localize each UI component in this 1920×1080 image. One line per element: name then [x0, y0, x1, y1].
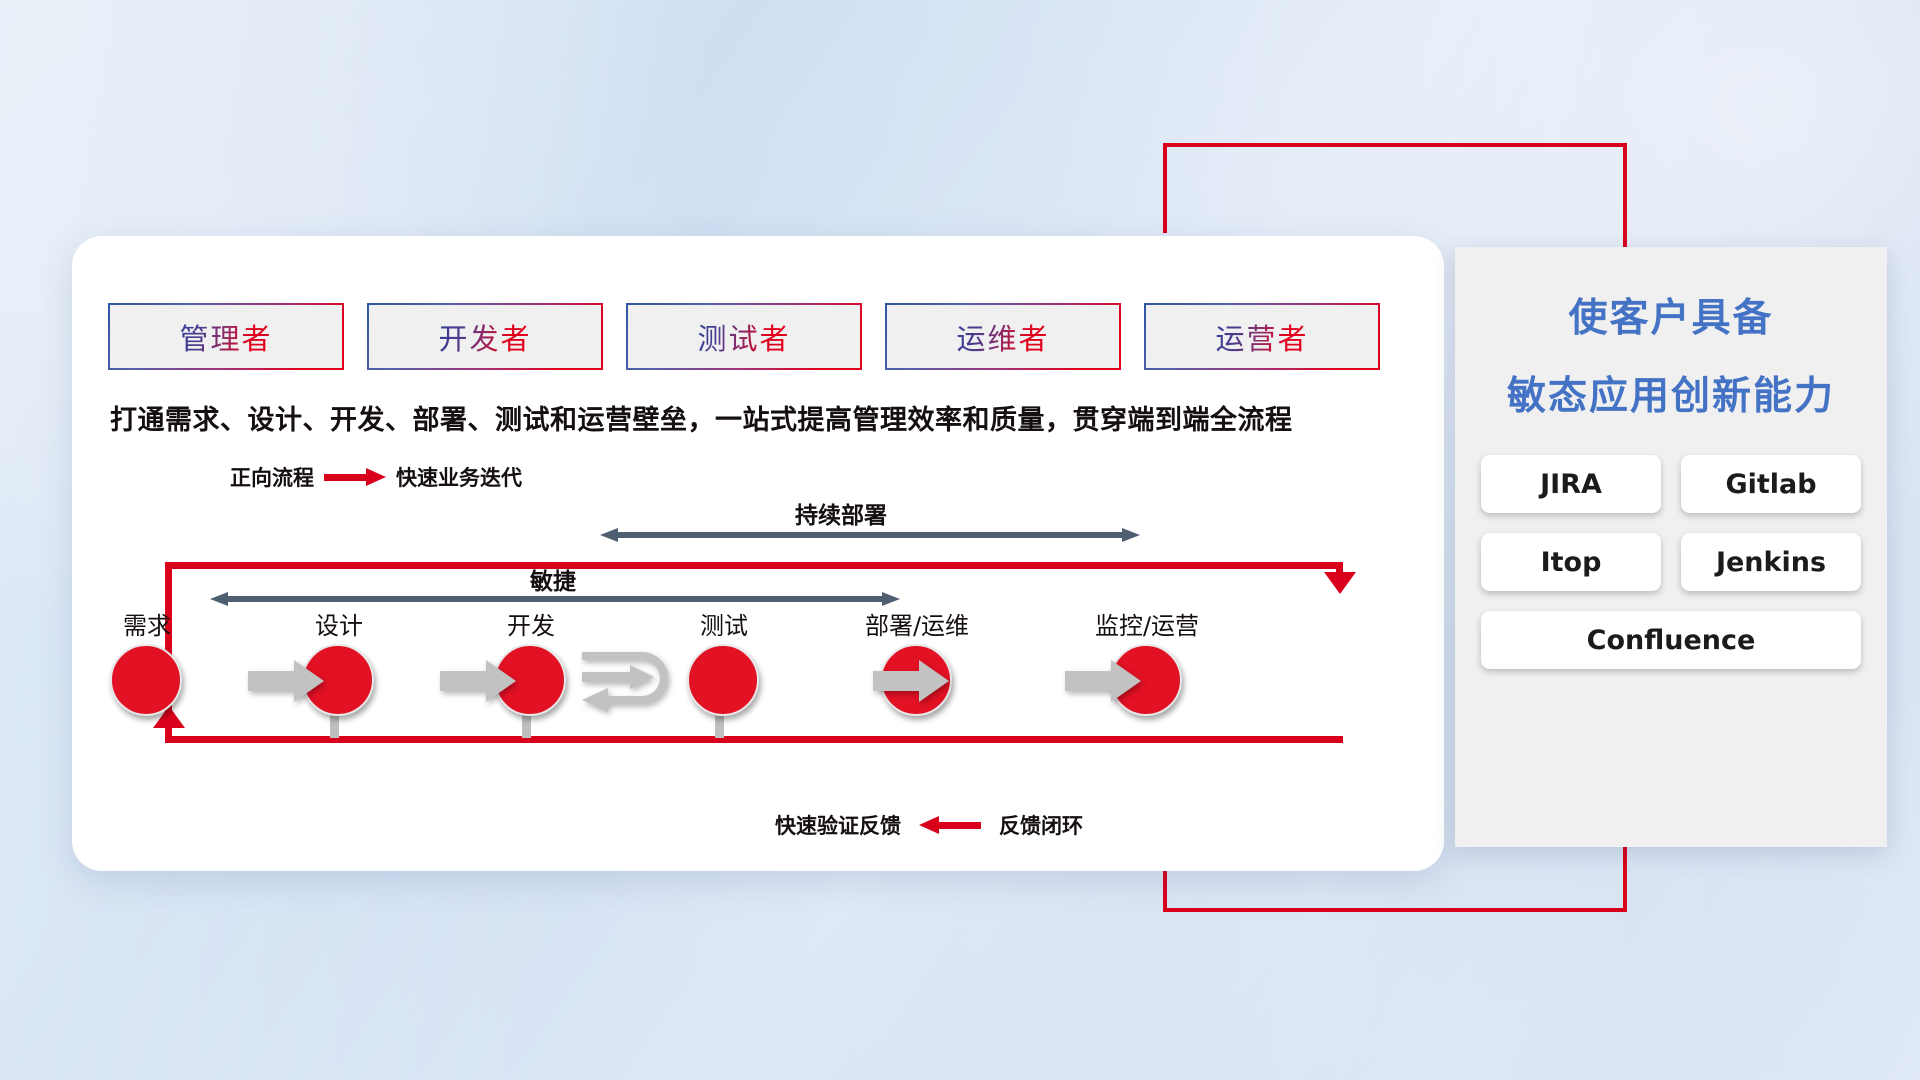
tool-chip-list: JIRA Gitlab Itop Jenkins Confluence	[1481, 455, 1861, 669]
pipeline-node-dot	[110, 644, 182, 716]
legend-feedback-right-label: 反馈闭环	[999, 810, 1083, 840]
pipeline-node-label: 需求	[123, 606, 171, 641]
arrow-down-red-icon	[1324, 572, 1356, 594]
role-chip-ops[interactable]: 运维者	[887, 305, 1119, 368]
panel-heading-line2: 敏态应用创新能力	[1455, 365, 1887, 421]
legend-forward-left-label: 正向流程	[230, 462, 314, 492]
legend-forward-right-label: 快速业务迭代	[396, 462, 522, 492]
role-chip-label: 测试者	[697, 316, 790, 358]
role-chip-developer[interactable]: 开发者	[369, 305, 601, 368]
pipeline-node-label: 设计	[315, 606, 363, 641]
role-chip-row: 管理者 开发者 测试者 运维者 运营者	[110, 305, 1378, 368]
connector-frame-top	[1163, 143, 1627, 147]
block-arrow-icon-4	[873, 660, 949, 702]
block-arrow-icon-1	[248, 660, 324, 702]
block-arrow-icon-5	[1065, 660, 1141, 702]
legend-feedback-loop: 快速验证反馈 反馈闭环	[775, 810, 1083, 840]
tool-chip-gitlab[interactable]: Gitlab	[1681, 455, 1861, 513]
tool-chip-jira[interactable]: JIRA	[1481, 455, 1661, 513]
description-text: 打通需求、设计、开发、部署、测试和运营壁垒，一站式提高管理效率和质量，贯穿端到端…	[110, 398, 1410, 437]
role-chip-operations[interactable]: 运营者	[1146, 305, 1378, 368]
legend-forward-flow: 正向流程 快速业务迭代	[230, 462, 522, 492]
panel-heading-line1: 使客户具备	[1455, 287, 1887, 343]
pipeline-node-label: 部署/运维	[865, 606, 969, 641]
connector-frame-left-stub	[1163, 143, 1167, 233]
double-arrow-continuous-deployment	[600, 528, 1140, 542]
role-chip-label: 开发者	[438, 316, 531, 358]
role-chip-manager[interactable]: 管理者	[110, 305, 342, 368]
block-arrow-icon-2	[440, 660, 516, 702]
pipeline-node-label: 开发	[507, 606, 555, 641]
tool-chip-itop[interactable]: Itop	[1481, 533, 1661, 591]
double-arrow-agile	[210, 592, 900, 606]
feedback-loop-bottom	[165, 736, 1343, 743]
pipeline-node-dot	[687, 644, 759, 716]
span-label-continuous-deployment: 持续部署	[795, 496, 887, 530]
role-chip-label: 运营者	[1215, 316, 1308, 358]
arrow-left-red-icon	[919, 816, 981, 834]
feedback-loop-top	[165, 562, 1343, 569]
role-chip-tester[interactable]: 测试者	[628, 305, 860, 368]
legend-feedback-left-label: 快速验证反馈	[775, 810, 901, 840]
connector-frame-bottom	[1163, 908, 1627, 912]
pipeline-node-label: 监控/运营	[1095, 606, 1199, 641]
tool-chip-confluence[interactable]: Confluence	[1481, 611, 1861, 669]
value-proposition-panel: 使客户具备 敏态应用创新能力 JIRA Gitlab Itop Jenkins …	[1455, 247, 1887, 847]
arrow-right-red-icon	[324, 468, 386, 486]
role-chip-label: 运维者	[956, 316, 1049, 358]
tool-chip-jenkins[interactable]: Jenkins	[1681, 533, 1861, 591]
role-chip-label: 管理者	[179, 316, 272, 358]
u-turn-arrow-icon	[580, 648, 680, 714]
pipeline-node-label: 测试	[700, 606, 748, 641]
